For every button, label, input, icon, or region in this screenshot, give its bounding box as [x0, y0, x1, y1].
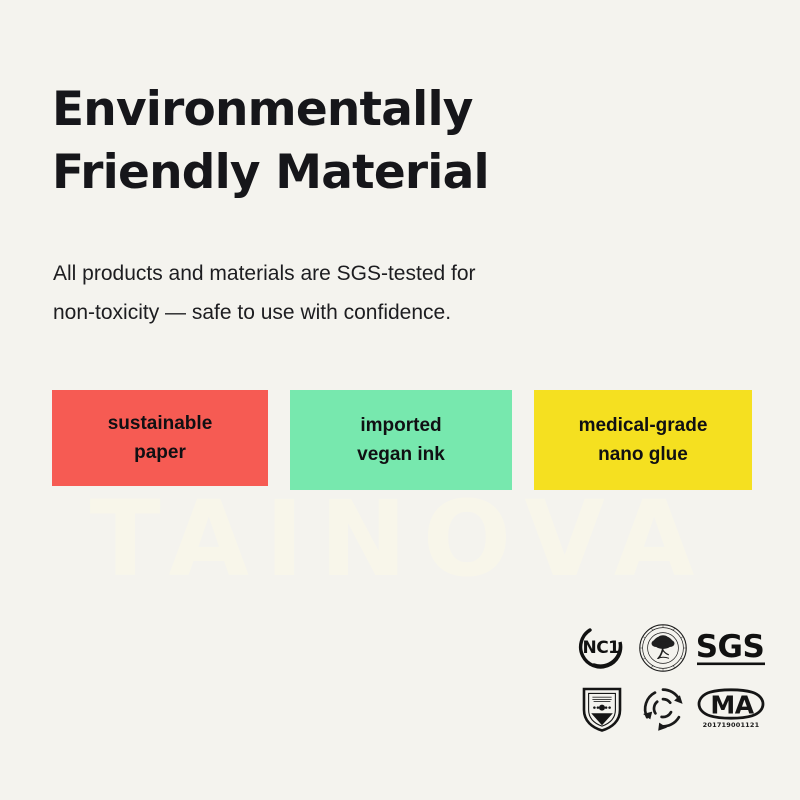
badge-imported-vegan-ink-line-2: vegan ink — [357, 440, 445, 469]
sgs-certification-icon: SGS — [694, 623, 768, 673]
page-subtitle-line-1: All products and materials are SGS-teste… — [53, 255, 673, 294]
certification-marks: NC1 — [572, 620, 768, 736]
nc1-certification-icon: NC1 — [572, 622, 632, 674]
material-badge-row: sustainable paper imported vegan ink med… — [52, 390, 752, 490]
page-subtitle-line-2: non-toxicity — safe to use with confiden… — [53, 294, 673, 333]
page-subtitle: All products and materials are SGS-teste… — [53, 255, 673, 333]
forest-tree-seal-icon — [632, 621, 694, 675]
badge-sustainable-paper: sustainable paper — [52, 390, 268, 486]
badge-medical-grade-nano-glue-line-2: nano glue — [598, 440, 688, 469]
svg-text:MA: MA — [710, 690, 754, 719]
badge-imported-vegan-ink: imported vegan ink — [290, 390, 512, 490]
page-title: Environmentally Friendly Material — [52, 79, 752, 204]
badge-sustainable-paper-line-1: sustainable — [108, 409, 213, 438]
recycling-arrows-icon — [632, 681, 694, 735]
certification-row-top: NC1 — [572, 620, 768, 676]
brand-watermark: TAINOVA — [0, 487, 800, 591]
page-title-line-2: Friendly Material — [52, 142, 752, 205]
page-title-line-1: Environmentally — [52, 79, 752, 142]
svg-text:SGS: SGS — [696, 629, 765, 665]
cma-certificate-number: 201719001121 — [703, 721, 760, 729]
svg-text:NC1: NC1 — [582, 638, 619, 658]
cma-certification-icon: MA 201719001121 — [694, 681, 768, 735]
poster-canvas: TAINOVA Environmentally Friendly Materia… — [0, 0, 800, 800]
badge-medical-grade-nano-glue-line-1: medical-grade — [579, 411, 708, 440]
badge-medical-grade-nano-glue: medical-grade nano glue — [534, 390, 752, 490]
certification-row-bottom: MA 201719001121 — [572, 680, 768, 736]
badge-imported-vegan-ink-line-1: imported — [360, 411, 441, 440]
badge-sustainable-paper-line-2: paper — [134, 438, 186, 467]
shield-certification-icon — [572, 681, 632, 735]
